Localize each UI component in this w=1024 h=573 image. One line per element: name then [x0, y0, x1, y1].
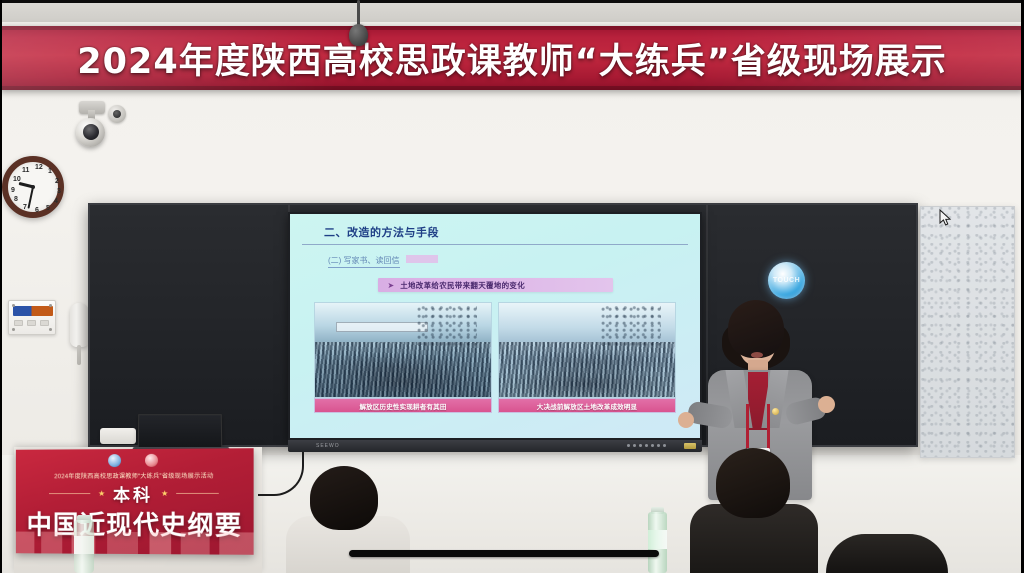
ceiling-strip [0, 0, 1024, 22]
star-icon: ★ [161, 489, 168, 498]
event-banner-text: 2024年度陕西高校思政课教师“大练兵”省级现场展示 [77, 33, 946, 84]
historical-photo-left [314, 302, 492, 398]
clock-numeral: 4 [54, 198, 58, 205]
panel-screw [49, 304, 52, 307]
panel-screw [49, 328, 52, 331]
clock-numeral: 5 [46, 205, 50, 212]
clock-numeral: 8 [14, 196, 18, 203]
presenter-hand-left [678, 412, 694, 428]
slide-highlight-swatch [406, 255, 438, 263]
laptop-on-podium[interactable] [138, 414, 223, 449]
clock-numeral: 6 [35, 207, 39, 214]
student-dark-coat [690, 448, 818, 573]
classroom-scene: 2024年度陕西高校思政课教师“大练兵”省级现场展示 12 1 2 3 4 5 … [0, 0, 1024, 573]
clock-numeral: 12 [35, 164, 43, 171]
board-logo-text: TOUCH [773, 277, 800, 284]
sign-logo-row [108, 454, 158, 467]
camera-lens-icon [83, 124, 99, 140]
student-head [310, 466, 378, 530]
student-foreground-right [826, 534, 948, 573]
clock-numeral: 3 [57, 188, 61, 195]
organization-logo-icon [108, 454, 121, 467]
panel-screw [12, 304, 15, 307]
sign-level-row: ★ 本科 ★ [16, 481, 254, 506]
arrow-icon: ➤ [388, 281, 395, 290]
video-progress-bar[interactable] [349, 550, 659, 557]
photo-caption: 解放区历史性实现耕者有其田 [314, 398, 492, 413]
clock-numeral: 1 [48, 168, 52, 175]
presenter-lanyard [746, 404, 770, 454]
slide-highlight-bar: ➤ 土地改革给农民带来翻天覆地的变化 [378, 278, 613, 292]
historical-photo-right [498, 302, 676, 398]
water-bottle-label [74, 536, 94, 554]
podium-name-sign: 2024年度陕西高校思政课教师“大练兵”省级现场展示活动 ★ 本科 ★ 中国近现… [16, 448, 254, 555]
student-head [716, 448, 790, 518]
presenter-mouth [751, 352, 763, 358]
clock-numeral: 2 [55, 178, 59, 185]
clock-numeral: 11 [22, 167, 29, 174]
photo-caption: 大决战前解放区土地改革成效明显 [498, 398, 676, 413]
star-icon: ★ [98, 489, 105, 498]
organization-logo-icon [145, 454, 158, 467]
slide-subtitle: (二) 写家书、读回信 [328, 255, 400, 268]
control-panel-button[interactable] [40, 320, 49, 326]
sign-rule [176, 493, 219, 494]
smartboard-button[interactable] [645, 444, 648, 447]
smartboard-button[interactable] [651, 444, 654, 447]
slide-title: 二、改造的方法与手段 [302, 220, 688, 240]
mouse-pointer-icon [939, 209, 952, 227]
clock-center-pin [31, 185, 35, 189]
desk-equipment [100, 428, 136, 444]
photo-caption-text: 解放区历史性实现耕者有其田 [359, 401, 446, 411]
frame-edge-left [0, 0, 2, 573]
slide-highlight-text: 土地改革给农民带来翻天覆地的变化 [400, 280, 525, 291]
smartboard-button[interactable] [639, 444, 642, 447]
presenter-hair [728, 300, 784, 358]
clock-minute-hand [27, 187, 34, 209]
smartboard-buttons[interactable] [627, 444, 666, 447]
smartboard-button[interactable] [627, 444, 630, 447]
photo-crowd-texture [315, 342, 491, 397]
photo-caption-text: 大决战前解放区土地改革成效明显 [537, 401, 638, 411]
panel-screw [12, 328, 15, 331]
speckled-wall-panel [920, 206, 1015, 458]
clock-numeral: 7 [23, 204, 27, 211]
sign-skyline-graphic [16, 532, 254, 555]
banner-edge-top [0, 26, 1024, 30]
slide-photo-card: 解放区历史性实现耕者有其田 [314, 302, 492, 413]
smartboard-button[interactable] [633, 444, 636, 447]
control-panel-display [13, 306, 53, 316]
student-body [826, 534, 948, 573]
control-panel-button[interactable] [27, 320, 36, 326]
clock-numeral: 9 [11, 187, 15, 194]
sign-header-text: 2024年度陕西高校思政课教师“大练兵”省级现场展示活动 [16, 471, 254, 481]
wall-clock: 12 1 2 3 4 5 6 7 8 9 10 11 [2, 156, 64, 218]
student-bottle-label [648, 530, 667, 549]
smartboard-brand-label: SEEWO [316, 443, 340, 449]
sign-level-text: 本科 [113, 481, 153, 506]
auxiliary-camera-lens [113, 110, 121, 118]
presentation-screen[interactable]: 二、改造的方法与手段 (二) 写家书、读回信 ➤ 土地改革给农民带来翻天覆地的变… [288, 212, 702, 440]
presenter-lapel-pin-icon [772, 408, 779, 415]
smartboard-button[interactable] [657, 444, 660, 447]
slide-photo-card: 大决战前解放区土地改革成效明显 [498, 302, 676, 413]
board-logo-icon: TOUCH [768, 262, 805, 299]
presenter-hand-right [818, 396, 835, 413]
slide-content: 二、改造的方法与手段 (二) 写家书、读回信 ➤ 土地改革给农民带来翻天覆地的变… [290, 214, 700, 438]
banner-edge-bottom [0, 86, 1024, 90]
wall-control-panel[interactable] [8, 300, 56, 335]
smartboard-bezel: SEEWO [288, 440, 702, 452]
sign-rule [49, 493, 90, 494]
smartboard-button[interactable] [663, 444, 666, 447]
photo-crowd-texture [499, 342, 675, 397]
frame-edge-top [0, 0, 1024, 3]
intercom-handset[interactable] [70, 303, 89, 347]
hanging-microphone-icon [349, 24, 368, 46]
control-panel-buttons[interactable] [14, 320, 49, 326]
event-banner: 2024年度陕西高校思政课教师“大练兵”省级现场展示 [0, 26, 1024, 90]
control-panel-button[interactable] [14, 320, 23, 326]
slide-photo-row: 解放区历史性实现耕者有其田 大决战前解放区土地改革成效明显 [302, 302, 688, 413]
photo-banner-strip [336, 322, 428, 332]
